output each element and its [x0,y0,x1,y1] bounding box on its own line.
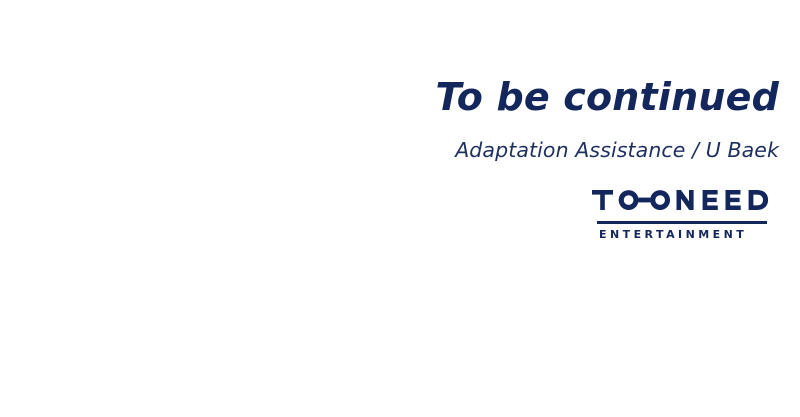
logo-divider-rule [597,221,767,224]
logo-wordmark [592,188,774,212]
credit-line: Adaptation Assistance / U Baek [0,140,779,161]
credit-line-block: Adaptation Assistance / U Baek [0,140,779,161]
logo-wordmark-glyphs [592,188,774,212]
page-title: To be continued [0,78,779,116]
tooneed-logo: ENTERTAINMENT [592,188,774,212]
end-card-canvas: To be continued Adaptation Assistance / … [0,0,800,417]
logo-tagline: ENTERTAINMENT [599,229,767,241]
end-card-text-block: To be continued [0,78,779,116]
linked-rings-icon [619,190,670,210]
